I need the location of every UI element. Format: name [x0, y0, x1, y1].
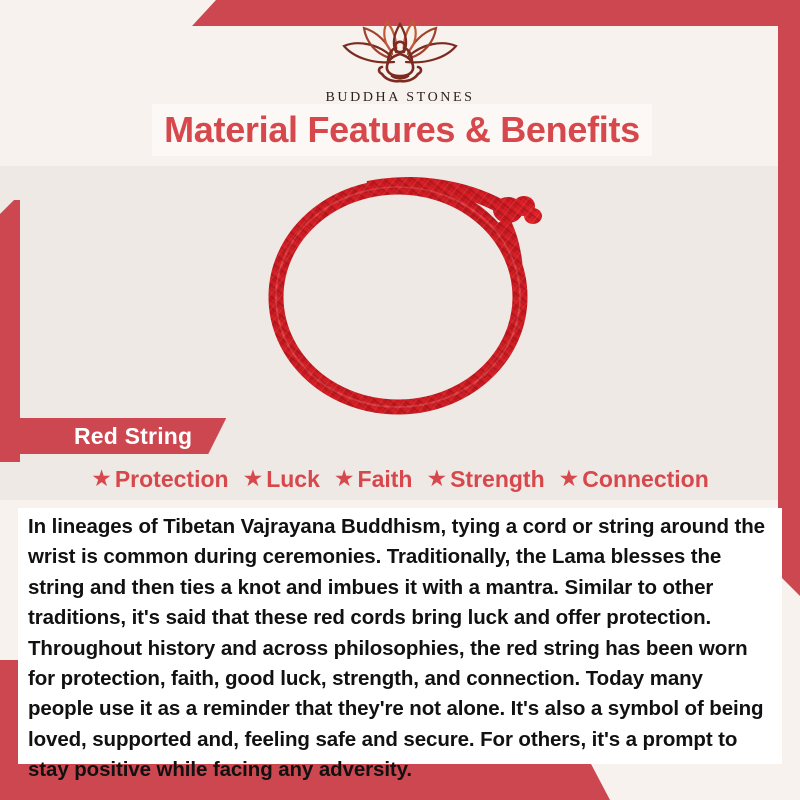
page-title: Material Features & Benefits [164, 109, 640, 151]
product-image-area [0, 166, 800, 428]
star-icon: ★ [426, 467, 447, 490]
feature-label: Luck [266, 466, 320, 493]
feature-label: Strength [450, 466, 545, 493]
feature-list: ★ Protection ★ Luck ★ Faith ★ Strength ★… [0, 466, 800, 493]
feature-label: Connection [582, 466, 709, 493]
feature-label: Faith [358, 466, 413, 493]
feature-item-luck: ★ Luck [243, 466, 320, 493]
feature-label: Protection [115, 466, 229, 493]
feature-item-strength: ★ Strength [426, 466, 544, 493]
brand-logo: BUDDHA STONES [0, 18, 800, 106]
red-string-bracelet-image [248, 170, 558, 420]
star-icon: ★ [243, 467, 264, 490]
description-panel: In lineages of Tibetan Vajrayana Buddhis… [18, 508, 782, 764]
title-banner: Material Features & Benefits [152, 104, 652, 156]
feature-item-connection: ★ Connection [559, 466, 709, 493]
product-label: Red String [74, 423, 192, 450]
feature-item-faith: ★ Faith [334, 466, 413, 493]
star-icon: ★ [91, 467, 112, 490]
star-icon: ★ [334, 467, 355, 490]
description-text: In lineages of Tibetan Vajrayana Buddhis… [18, 508, 782, 786]
product-label-banner: Red String [20, 418, 226, 454]
star-icon: ★ [559, 467, 580, 490]
lotus-meditation-logo-icon [334, 18, 466, 88]
infographic-page: BUDDHA STONES Material Features & Benefi… [0, 0, 800, 800]
feature-item-protection: ★ Protection [91, 466, 228, 493]
